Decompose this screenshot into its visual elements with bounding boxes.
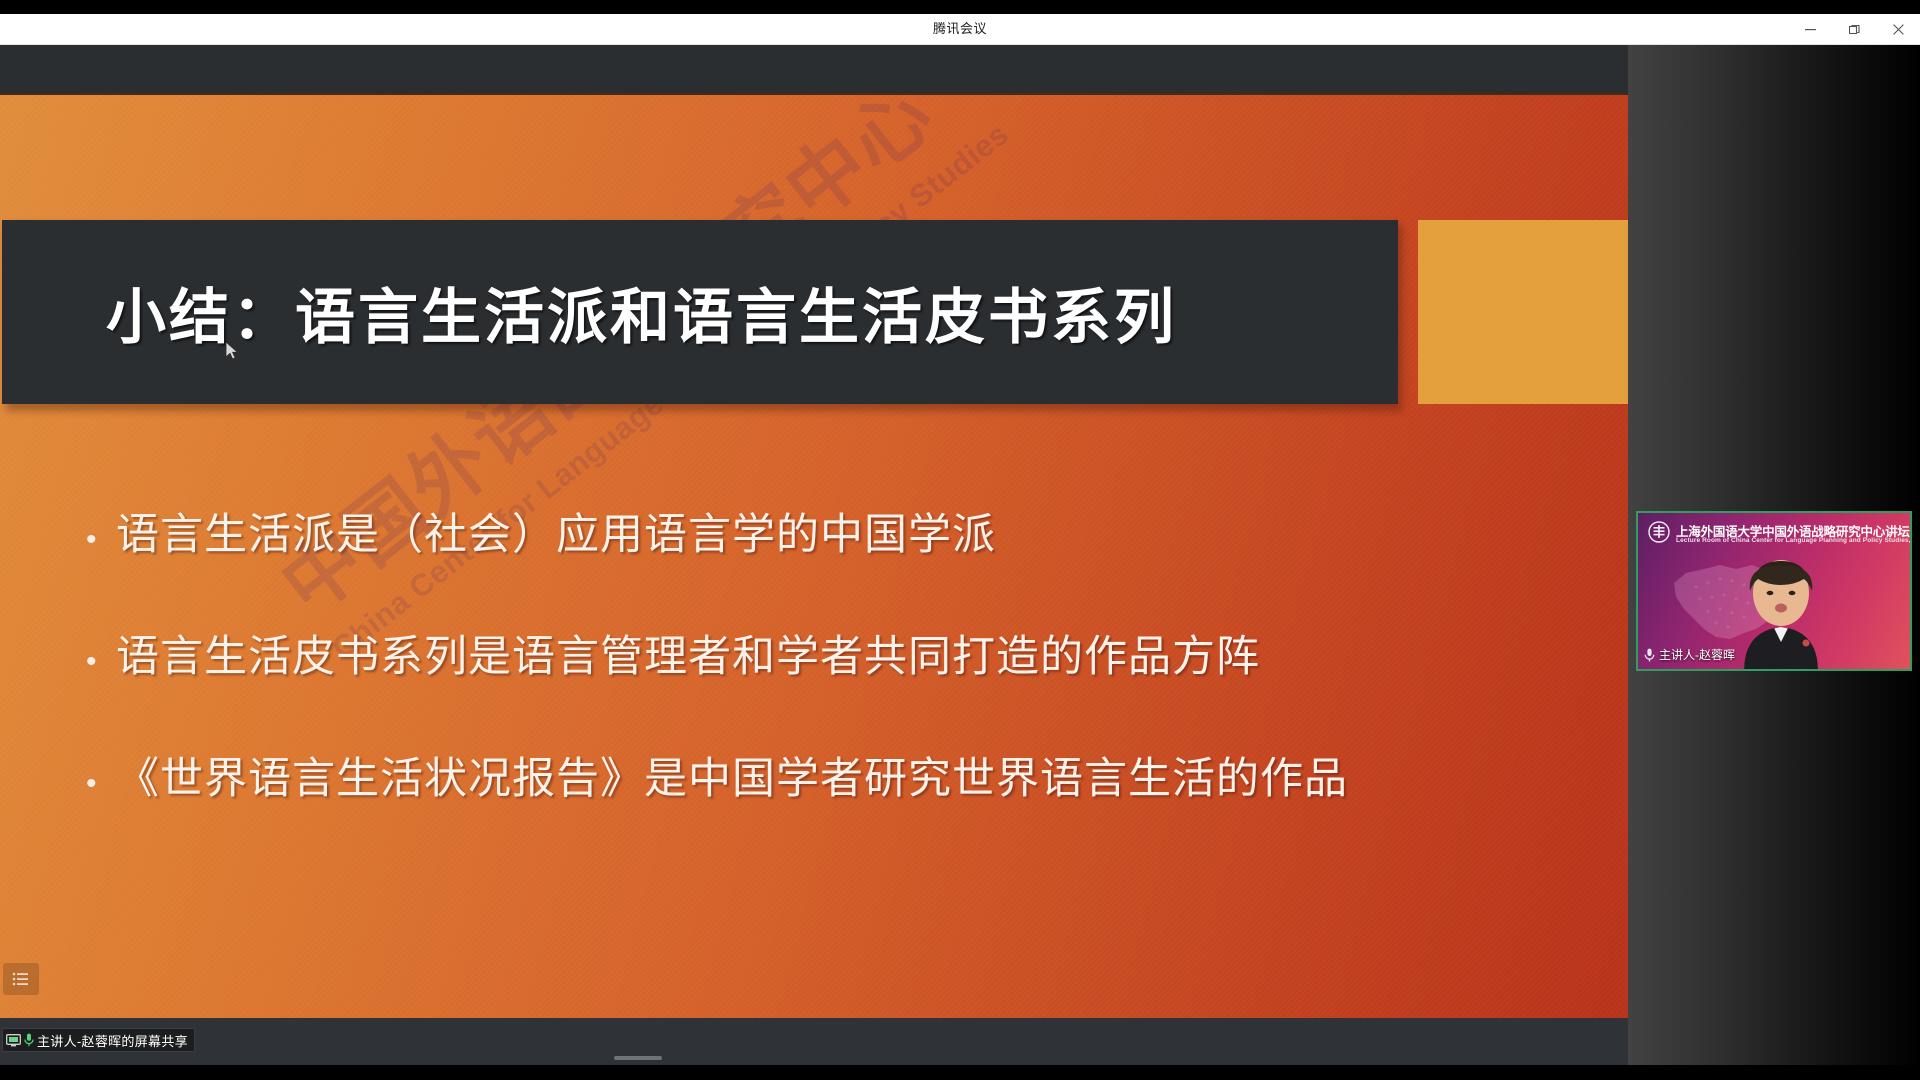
participant-name-label: 主讲人-赵蓉晖 bbox=[1659, 646, 1735, 663]
video-bg-headline-en: Lecture Room of China Center for Languag… bbox=[1676, 537, 1912, 544]
slide-outline-button[interactable] bbox=[3, 963, 39, 995]
list-item: • 《世界语言生活状况报告》是中国学者研究世界语言生活的作品 bbox=[86, 744, 1566, 806]
bottom-black-bar bbox=[0, 1065, 1920, 1080]
window-title: 腾讯会议 bbox=[0, 14, 1920, 44]
share-footer-bar: 主讲人-赵蓉晖的屏幕共享 bbox=[0, 1018, 1628, 1065]
bullet-text: 《世界语言生活状况报告》是中国学者研究世界语言生活的作品 bbox=[116, 744, 1348, 806]
top-black-strip bbox=[0, 0, 1920, 14]
window-controls bbox=[1788, 14, 1920, 44]
participant-avatar bbox=[1720, 553, 1842, 669]
slide-accent-block bbox=[1418, 220, 1628, 404]
microphone-icon bbox=[1644, 648, 1655, 662]
status-badge[interactable]: 主讲人-赵蓉晖的屏幕共享 bbox=[2, 1028, 195, 1052]
participant-name-badge: 主讲人-赵蓉晖 bbox=[1644, 646, 1735, 663]
share-status-label: 主讲人-赵蓉晖的屏幕共享 bbox=[37, 1031, 188, 1050]
powerpoint-slide: 中国外语战略研究中心 China Center for Language Pla… bbox=[0, 45, 1628, 1018]
meeting-body: 中国外语战略研究中心 China Center for Language Pla… bbox=[0, 45, 1920, 1065]
microphone-icon bbox=[24, 1033, 34, 1047]
close-button[interactable] bbox=[1876, 14, 1920, 44]
minimize-icon bbox=[1805, 24, 1816, 35]
restore-icon bbox=[1849, 24, 1860, 35]
slide-bullet-list: • 语言生活派是（社会）应用语言学的中国学派 • 语言生活皮书系列是语言管理者和… bbox=[86, 500, 1566, 866]
bullet-marker-icon: • bbox=[86, 647, 116, 677]
bullet-marker-icon: • bbox=[86, 769, 116, 799]
bullet-marker-icon: • bbox=[86, 525, 116, 555]
slide-top-band bbox=[0, 45, 1628, 93]
slide-title-box: 小结：语言生活派和语言生活皮书系列 bbox=[2, 220, 1398, 404]
screen-share-icon bbox=[6, 1034, 21, 1047]
tencent-meeting-window: 腾讯会议 bbox=[0, 0, 1920, 1080]
list-item: • 语言生活派是（社会）应用语言学的中国学派 bbox=[86, 500, 1566, 562]
list-item: • 语言生活皮书系列是语言管理者和学者共同打造的作品方阵 bbox=[86, 622, 1566, 684]
outline-list-icon bbox=[12, 972, 30, 986]
sisu-logo-icon bbox=[1648, 521, 1670, 543]
participant-video-tile[interactable]: 上海外国语大学中国外语战略研究中心讲坛 Lecture Room of Chin… bbox=[1636, 511, 1912, 671]
panel-resize-handle[interactable] bbox=[614, 1056, 662, 1060]
window-titlebar[interactable]: 腾讯会议 bbox=[0, 14, 1920, 45]
bullet-text: 语言生活派是（社会）应用语言学的中国学派 bbox=[116, 500, 996, 562]
shared-screen-area[interactable]: 中国外语战略研究中心 China Center for Language Pla… bbox=[0, 45, 1628, 1018]
bullet-text: 语言生活皮书系列是语言管理者和学者共同打造的作品方阵 bbox=[116, 622, 1260, 684]
close-icon bbox=[1893, 24, 1904, 35]
minimize-button[interactable] bbox=[1788, 14, 1832, 44]
restore-button[interactable] bbox=[1832, 14, 1876, 44]
slide-title: 小结：语言生活派和语言生活皮书系列 bbox=[106, 269, 1177, 356]
